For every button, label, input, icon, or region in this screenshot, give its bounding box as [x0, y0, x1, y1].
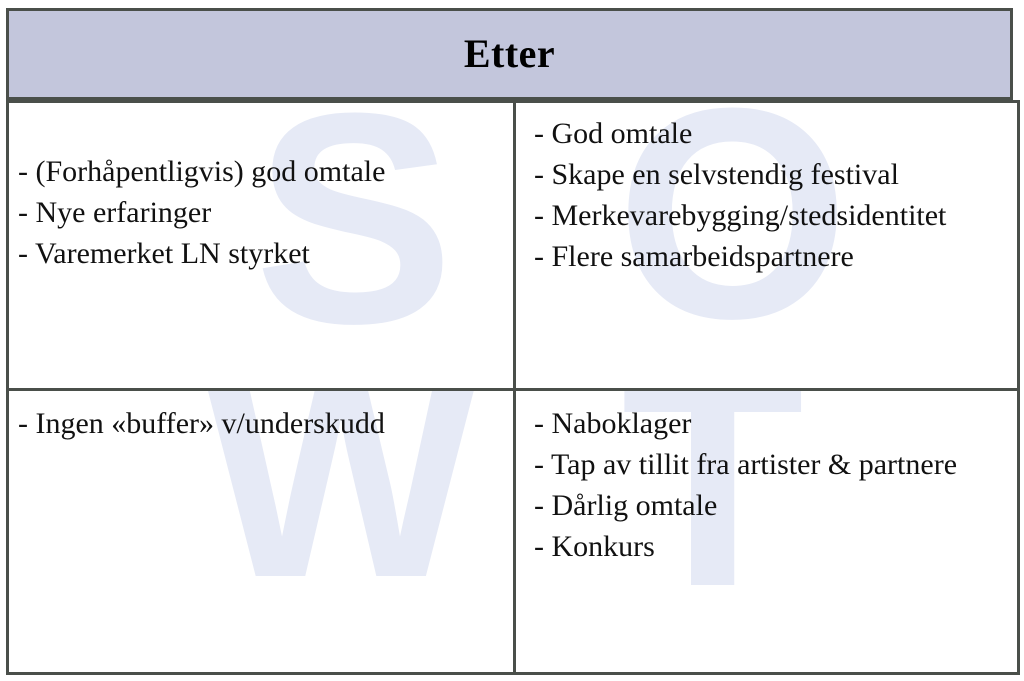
threats-list: - Naboklager - Tap av tillit fra artiste… [516, 391, 1017, 567]
list-item: - Merkevarebygging/stedsidentitet [534, 195, 1017, 236]
quadrant-threats: T - Naboklager - Tap av tillit fra artis… [516, 391, 1017, 672]
list-item: - Ingen «buffer» v/underskudd [18, 403, 513, 444]
quadrant-weaknesses: W - Ingen «buffer» v/underskudd [9, 391, 513, 672]
quadrant-strengths: S - (Forhåpentligvis) god omtale - Nye e… [9, 103, 513, 388]
list-item: - Konkurs [534, 526, 1017, 567]
swot-matrix-slide: Etter S - (Forhåpentligvis) god omtale -… [0, 0, 1024, 681]
swot-matrix-table: S - (Forhåpentligvis) god omtale - Nye e… [6, 100, 1020, 675]
list-item: - Flere samarbeidspartnere [534, 236, 1017, 277]
weaknesses-list: - Ingen «buffer» v/underskudd [9, 391, 513, 444]
list-item: - Tap av tillit fra artister & partnere [534, 444, 1017, 485]
strengths-list: - (Forhåpentligvis) god omtale - Nye erf… [9, 103, 513, 274]
list-item: - (Forhåpentligvis) god omtale [18, 151, 513, 192]
list-item: - Dårlig omtale [534, 485, 1017, 526]
list-item: - Varemerket LN styrket [18, 233, 513, 274]
row-divider [9, 388, 1017, 391]
matrix-header: Etter [6, 8, 1013, 100]
page-title: Etter [464, 34, 555, 74]
list-item: - Nye erfaringer [18, 192, 513, 233]
list-item: - God omtale [534, 113, 1017, 154]
quadrant-opportunities: O - God omtale - Skape en selvstendig fe… [516, 103, 1017, 388]
list-item: - Naboklager [534, 403, 1017, 444]
opportunities-list: - God omtale - Skape en selvstendig fest… [516, 103, 1017, 277]
list-item: - Skape en selvstendig festival [534, 154, 1017, 195]
